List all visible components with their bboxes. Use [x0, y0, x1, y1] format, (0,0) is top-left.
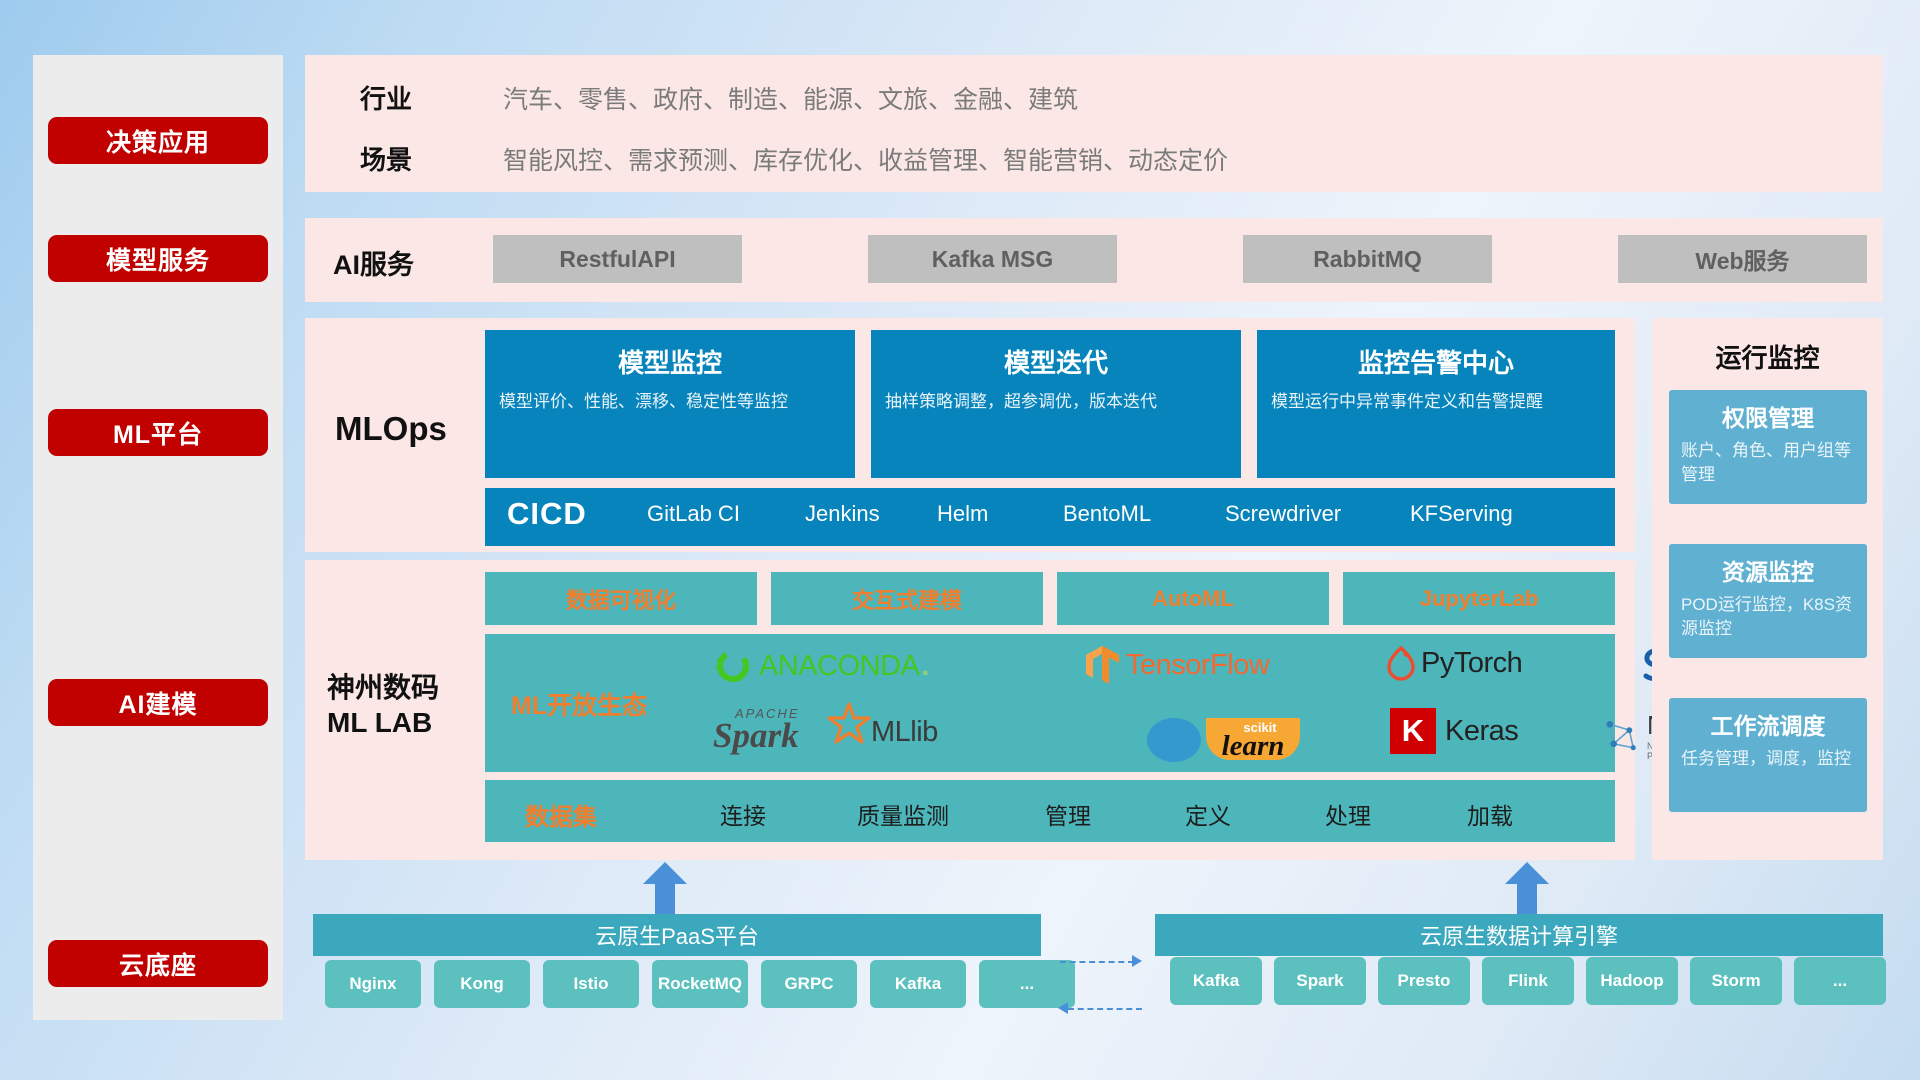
right-card-title: 权限管理 — [1669, 390, 1867, 433]
mlops-panel: MLOps 模型监控 模型评价、性能、漂移、稳定性等监控 模型迭代 抽样策略调整… — [305, 318, 1635, 552]
ml-ecosystem-label: ML开放生态 — [511, 686, 647, 722]
left-rail: 决策应用 模型服务 ML平台 AI建模 云底座 — [33, 55, 283, 1020]
application-layer-panel: 行业 汽车、零售、政府、制造、能源、文旅、金融、建筑 场景 智能风控、需求预测、… — [305, 55, 1883, 192]
ml-lab-label: 神州数码 ML LAB — [327, 670, 439, 740]
data-engine-bar: 云原生数据计算引擎 — [1155, 914, 1883, 956]
svg-text:learn: learn — [1222, 730, 1285, 762]
engine-chip-spark[interactable]: Spark — [1274, 957, 1366, 1005]
cicd-item-helm[interactable]: Helm — [937, 501, 1057, 526]
ml-ecosystem-strip: ML开放生态 ANACONDA . TensorFlow — [485, 634, 1615, 772]
engine-chip-more[interactable]: ... — [1794, 957, 1886, 1005]
arrow-up-right — [1505, 862, 1549, 914]
tensorflow-logo: TensorFlow — [1085, 644, 1269, 686]
paas-chip-grpc[interactable]: GRPC — [761, 960, 857, 1008]
service-chip-web-service[interactable]: Web服务 — [1618, 235, 1867, 283]
cicd-item-gitlab-ci[interactable]: GitLab CI — [647, 501, 767, 526]
keras-icon: K — [1390, 708, 1436, 754]
paas-chip-rocketmq[interactable]: RocketMQ — [652, 960, 748, 1008]
right-card-desc: 账户、角色、用户组等管理 — [1669, 433, 1867, 497]
cicd-item-jenkins[interactable]: Jenkins — [805, 501, 925, 526]
pytorch-icon — [1385, 644, 1417, 682]
dataset-item-connect[interactable]: 连接 — [720, 797, 766, 831]
dataset-item-load[interactable]: 加载 — [1467, 797, 1513, 831]
rail-item-ai-modeling[interactable]: AI建模 — [48, 679, 268, 726]
rail-item-decision-app[interactable]: 决策应用 — [48, 117, 268, 164]
industry-label: 行业 — [360, 79, 412, 116]
right-card-workflow[interactable]: 工作流调度 任务管理，调度，监控 — [1669, 698, 1867, 812]
service-layer-panel: AI服务 RestfulAPI Kafka MSG RabbitMQ Web服务 — [305, 218, 1883, 302]
scikit-learn-icon: scikit learn — [1140, 710, 1330, 762]
mlops-card-title: 监控告警中心 — [1257, 330, 1615, 380]
engine-chip-flink[interactable]: Flink — [1482, 957, 1574, 1005]
right-card-resource[interactable]: 资源监控 POD运行监控，K8S资源监控 — [1669, 544, 1867, 658]
dashed-connector-right — [1060, 961, 1134, 963]
architecture-diagram: 决策应用 模型服务 ML平台 AI建模 云底座 行业 汽车、零售、政府、制造、能… — [0, 0, 1920, 1080]
spark-wordmark: Spark — [713, 716, 799, 756]
pytorch-wordmark: PyTorch — [1421, 647, 1522, 680]
ml-lab-label-line2: ML LAB — [327, 705, 439, 740]
industry-value: 汽车、零售、政府、制造、能源、文旅、金融、建筑 — [503, 80, 1078, 116]
mlops-card-desc: 模型运行中异常事件定义和告警提醒 — [1257, 380, 1615, 413]
tensorflow-icon — [1085, 644, 1121, 686]
scikit-learn-logo: scikit learn — [1140, 710, 1330, 762]
right-rail-panel: 运行监控 权限管理 账户、角色、用户组等管理 资源监控 POD运行监控，K8S资… — [1652, 318, 1883, 860]
dataset-item-manage[interactable]: 管理 — [1045, 797, 1091, 831]
mlops-label: MLOps — [335, 410, 447, 448]
dashed-arrow-left — [1058, 1002, 1068, 1014]
dataset-item-process[interactable]: 处理 — [1325, 797, 1371, 831]
mllib-wordmark: MLlib — [871, 716, 938, 749]
engine-chip-presto[interactable]: Presto — [1378, 957, 1470, 1005]
arrow-up-left — [643, 862, 687, 914]
anaconda-dot: . — [921, 650, 929, 683]
cicd-strip: CICD GitLab CI Jenkins Helm BentoML Scre… — [485, 488, 1615, 546]
networkx-icon — [1600, 714, 1643, 758]
lab-tab-data-visualization[interactable]: 数据可视化 — [485, 572, 757, 625]
dataset-label: 数据集 — [525, 797, 597, 832]
right-card-title: 资源监控 — [1669, 544, 1867, 587]
scenario-value: 智能风控、需求预测、库存优化、收益管理、智能营销、动态定价 — [503, 141, 1228, 177]
mlops-card-model-iteration[interactable]: 模型迭代 抽样策略调整，超参调优，版本迭代 — [871, 330, 1241, 478]
dataset-strip: 数据集 连接 质量监测 管理 定义 处理 加载 — [485, 780, 1615, 842]
anaconda-logo: ANACONDA . — [713, 646, 929, 686]
ml-lab-panel: 神州数码 ML LAB 数据可视化 交互式建模 AutoML JupyterLa… — [305, 560, 1635, 860]
cicd-label: CICD — [507, 496, 587, 532]
spark-star-icon — [825, 700, 873, 748]
dataset-item-define[interactable]: 定义 — [1185, 797, 1231, 831]
cicd-item-screwdriver[interactable]: Screwdriver — [1225, 501, 1345, 526]
paas-chip-kafka[interactable]: Kafka — [870, 960, 966, 1008]
mlops-card-alert-center[interactable]: 监控告警中心 模型运行中异常事件定义和告警提醒 — [1257, 330, 1615, 478]
service-chip-kafka-msg[interactable]: Kafka MSG — [868, 235, 1117, 283]
pytorch-logo: PyTorch — [1385, 644, 1522, 682]
ml-lab-label-line1: 神州数码 — [327, 670, 439, 705]
mlops-card-title: 模型监控 — [485, 330, 855, 380]
paas-chip-istio[interactable]: Istio — [543, 960, 639, 1008]
paas-chip-more[interactable]: ... — [979, 960, 1075, 1008]
runtime-monitor-title: 运行监控 — [1652, 338, 1883, 375]
paas-chip-kong[interactable]: Kong — [434, 960, 530, 1008]
mlops-card-desc: 抽样策略调整，超参调优，版本迭代 — [871, 380, 1241, 413]
ai-service-label: AI服务 — [333, 243, 414, 282]
anaconda-wordmark: ANACONDA — [759, 650, 919, 683]
lab-tab-interactive-modeling[interactable]: 交互式建模 — [771, 572, 1043, 625]
cicd-item-bentoml[interactable]: BentoML — [1063, 501, 1183, 526]
paas-bar: 云原生PaaS平台 — [313, 914, 1041, 956]
service-chip-rabbitmq[interactable]: RabbitMQ — [1243, 235, 1492, 283]
cicd-item-kfserving[interactable]: KFServing — [1410, 501, 1530, 526]
keras-logo: K Keras — [1390, 708, 1518, 754]
engine-chip-hadoop[interactable]: Hadoop — [1586, 957, 1678, 1005]
rail-item-model-service[interactable]: 模型服务 — [48, 235, 268, 282]
anaconda-icon — [713, 646, 753, 686]
right-card-desc: POD运行监控，K8S资源监控 — [1669, 587, 1867, 651]
scenario-label: 场景 — [360, 140, 412, 177]
rail-item-ml-platform[interactable]: ML平台 — [48, 409, 268, 456]
lab-tab-jupyterlab[interactable]: JupyterLab — [1343, 572, 1615, 625]
rail-item-cloud-base[interactable]: 云底座 — [48, 940, 268, 987]
mlops-card-model-monitor[interactable]: 模型监控 模型评价、性能、漂移、稳定性等监控 — [485, 330, 855, 478]
right-card-permission[interactable]: 权限管理 账户、角色、用户组等管理 — [1669, 390, 1867, 504]
service-chip-restfulapi[interactable]: RestfulAPI — [493, 235, 742, 283]
lab-tab-automl[interactable]: AutoML — [1057, 572, 1329, 625]
dashed-connector-left — [1068, 1008, 1142, 1010]
keras-wordmark: Keras — [1445, 715, 1518, 748]
dataset-item-quality[interactable]: 质量监测 — [857, 797, 949, 831]
engine-chip-kafka[interactable]: Kafka — [1170, 957, 1262, 1005]
spark-mllib-logo: APACHE Spark MLlib — [713, 706, 938, 758]
mlops-card-desc: 模型评价、性能、漂移、稳定性等监控 — [485, 380, 855, 413]
right-card-title: 工作流调度 — [1669, 698, 1867, 741]
tensorflow-wordmark: TensorFlow — [1126, 649, 1269, 682]
dashed-arrow-right — [1132, 955, 1142, 967]
engine-chip-storm[interactable]: Storm — [1690, 957, 1782, 1005]
right-card-desc: 任务管理，调度，监控 — [1669, 741, 1867, 781]
paas-chip-nginx[interactable]: Nginx — [325, 960, 421, 1008]
mlops-card-title: 模型迭代 — [871, 330, 1241, 380]
